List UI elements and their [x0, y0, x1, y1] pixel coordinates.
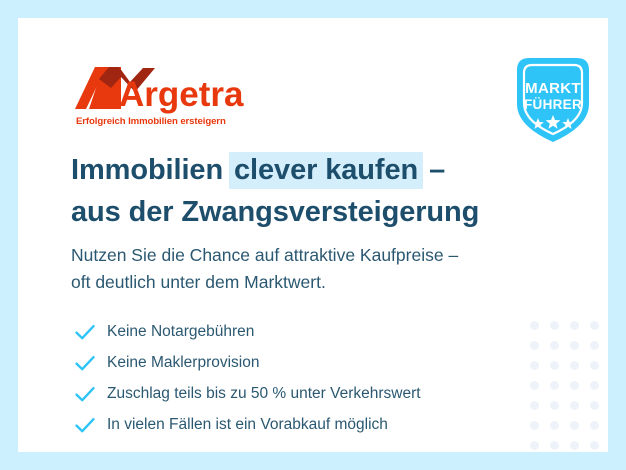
headline-highlight: clever kaufen — [229, 152, 423, 189]
headline-part-2: – — [421, 154, 445, 186]
dot-grid-dot — [570, 381, 579, 390]
headline-part-1: Immobilien — [71, 154, 231, 186]
headline-line-2: aus der Zwangsversteigerung — [71, 194, 479, 231]
dot-grid-dot — [530, 381, 539, 390]
dot-grid-dot — [590, 341, 599, 350]
dot-grid-dot — [570, 321, 579, 330]
argetra-logo[interactable]: Argetra Erfolgreich Immobilien ersteiger… — [73, 62, 273, 130]
dot-grid-dot — [530, 321, 539, 330]
market-leader-badge: MARKT FÜHRER — [507, 52, 599, 148]
check-icon — [73, 413, 97, 437]
headline: Immobilien clever kaufen – aus der Zwang… — [71, 152, 479, 231]
check-icon — [73, 320, 97, 344]
badge-line-1: MARKT — [525, 80, 581, 97]
dot-grid-dot — [550, 401, 559, 410]
benefits-checklist: Keine NotargebührenKeine Maklerprovision… — [73, 316, 421, 440]
argetra-logo-icon: Argetra Erfolgreich Immobilien ersteiger… — [73, 62, 273, 130]
subheadline-line-1: Nutzen Sie die Chance auf attraktive Kau… — [71, 242, 458, 269]
checklist-item-label: In vielen Fällen ist ein Vorabkauf mögli… — [107, 416, 388, 434]
dot-grid-dot — [590, 321, 599, 330]
dot-grid-dot — [530, 441, 539, 450]
dot-grid-dot — [570, 361, 579, 370]
dot-grid-dot — [590, 381, 599, 390]
checklist-item-label: Keine Maklerprovision — [107, 354, 260, 372]
dot-grid-dot — [550, 421, 559, 430]
dot-grid-decoration — [530, 321, 608, 452]
dot-grid-dot — [570, 421, 579, 430]
checklist-item: Keine Maklerprovision — [73, 347, 421, 378]
logo-wordmark: Argetra — [119, 75, 244, 114]
dot-grid-dot — [530, 341, 539, 350]
checklist-item: In vielen Fällen ist ein Vorabkauf mögli… — [73, 409, 421, 440]
banner-root: Argetra Erfolgreich Immobilien ersteiger… — [0, 0, 626, 470]
subheadline: Nutzen Sie die Chance auf attraktive Kau… — [71, 242, 458, 296]
badge-line-2: FÜHRER — [524, 97, 582, 112]
checklist-item: Keine Notargebühren — [73, 316, 421, 347]
checklist-item: Zuschlag teils bis zu 50 % unter Verkehr… — [73, 378, 421, 409]
shield-badge-icon: MARKT FÜHRER — [507, 52, 599, 148]
checklist-item-label: Keine Notargebühren — [107, 323, 254, 341]
dot-grid-dot — [550, 341, 559, 350]
dot-grid-dot — [550, 441, 559, 450]
dot-grid-dot — [530, 421, 539, 430]
dot-grid-dot — [590, 421, 599, 430]
dot-grid-dot — [570, 401, 579, 410]
dot-grid-dot — [590, 441, 599, 450]
dot-grid-dot — [570, 441, 579, 450]
logo-tagline: Erfolgreich Immobilien ersteigern — [76, 116, 226, 127]
check-icon — [73, 351, 97, 375]
dot-grid-dot — [550, 361, 559, 370]
checklist-item-label: Zuschlag teils bis zu 50 % unter Verkehr… — [107, 385, 421, 403]
dot-grid-dot — [590, 361, 599, 370]
dot-grid-dot — [530, 361, 539, 370]
dot-grid-dot — [550, 381, 559, 390]
dot-grid-dot — [550, 321, 559, 330]
subheadline-line-2: oft deutlich unter dem Marktwert. — [71, 269, 458, 296]
dot-grid-dot — [590, 401, 599, 410]
dot-grid-dot — [530, 401, 539, 410]
banner-card: Argetra Erfolgreich Immobilien ersteiger… — [18, 18, 608, 452]
check-icon — [73, 382, 97, 406]
dot-grid-dot — [570, 341, 579, 350]
